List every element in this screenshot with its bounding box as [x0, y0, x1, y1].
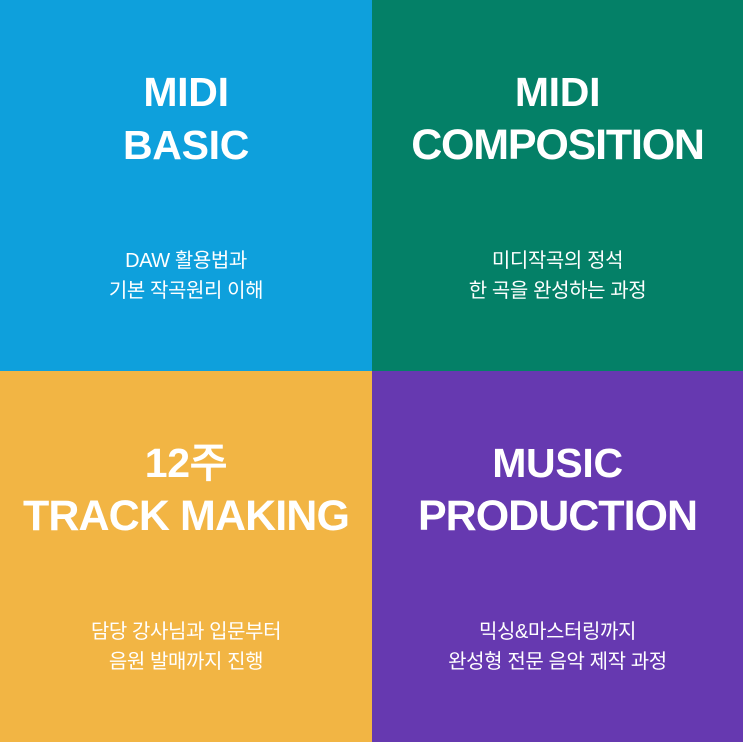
subtitle-line-2: 완성형 전문 음악 제작 과정 [372, 647, 743, 677]
subtitle-line-2: 기본 작곡원리 이해 [0, 276, 372, 306]
subtitle-line-1: 미디작곡의 정석 [372, 246, 743, 276]
panel-subtitle-track-making: 담당 강사님과 입문부터 음원 발매까지 진행 [0, 617, 372, 677]
title-line-1: MIDI [372, 66, 743, 119]
panel-title-music-production: MUSIC PRODUCTION [372, 437, 743, 543]
title-line-2: PRODUCTION [372, 490, 743, 543]
subtitle-line-2: 음원 발매까지 진행 [0, 647, 372, 677]
panel-title-track-making: 12주 TRACK MAKING [0, 437, 372, 543]
subtitle-line-2: 한 곡을 완성하는 과정 [372, 276, 743, 306]
subtitle-line-1: 믹싱&마스터링까지 [372, 617, 743, 647]
panel-title-midi-composition: MIDI COMPOSITION [372, 66, 743, 172]
course-grid-poster: MIDI BASIC DAW 활용법과 기본 작곡원리 이해 MIDI COMP… [0, 0, 743, 742]
title-line-2: BASIC [0, 119, 372, 172]
panel-midi-composition[interactable]: MIDI COMPOSITION 미디작곡의 정석 한 곡을 완성하는 과정 [372, 0, 743, 371]
panel-title-midi-basic: MIDI BASIC [0, 66, 372, 172]
panel-subtitle-midi-basic: DAW 활용법과 기본 작곡원리 이해 [0, 246, 372, 306]
title-line-2: TRACK MAKING [0, 490, 372, 543]
title-line-1: 12주 [0, 437, 372, 490]
subtitle-line-1: 담당 강사님과 입문부터 [0, 617, 372, 647]
panel-track-making[interactable]: 12주 TRACK MAKING 담당 강사님과 입문부터 음원 발매까지 진행 [0, 371, 372, 742]
panel-music-production[interactable]: MUSIC PRODUCTION 믹싱&마스터링까지 완성형 전문 음악 제작 … [372, 371, 743, 742]
title-line-1: MUSIC [372, 437, 743, 490]
title-line-2: COMPOSITION [372, 119, 743, 172]
panel-subtitle-music-production: 믹싱&마스터링까지 완성형 전문 음악 제작 과정 [372, 617, 743, 677]
panel-subtitle-midi-composition: 미디작곡의 정석 한 곡을 완성하는 과정 [372, 246, 743, 306]
panel-midi-basic[interactable]: MIDI BASIC DAW 활용법과 기본 작곡원리 이해 [0, 0, 372, 371]
subtitle-line-1: DAW 활용법과 [0, 246, 372, 276]
title-line-1: MIDI [0, 66, 372, 119]
